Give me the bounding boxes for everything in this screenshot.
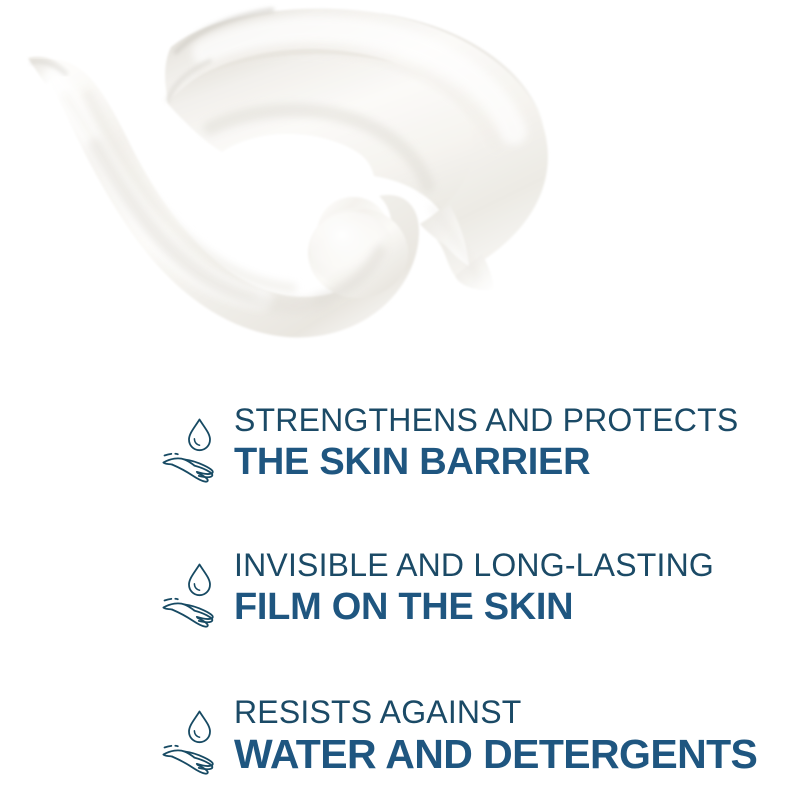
benefit-text-3: RESISTS AGAINST WATER AND DETERGENTS (234, 693, 757, 777)
benefit-text-1: STRENGTHENS AND PROTECTS THE SKIN BARRIE… (234, 401, 738, 485)
cream-swatch-image (0, 0, 800, 390)
benefit-bold-line-1: THE SKIN BARRIER (234, 439, 738, 485)
hand-with-droplet-icon (160, 705, 224, 779)
benefit-text-2: INVISIBLE AND LONG-LASTING FILM ON THE S… (234, 546, 714, 630)
product-benefits-page: STRENGTHENS AND PROTECTS THE SKIN BARRIE… (0, 0, 800, 800)
benefit-bold-line-3: WATER AND DETERGENTS (234, 731, 757, 777)
hand-with-droplet-icon (160, 413, 224, 487)
benefit-light-line-2: INVISIBLE AND LONG-LASTING (234, 546, 714, 584)
benefit-bold-line-2: FILM ON THE SKIN (234, 584, 714, 630)
hand-with-droplet-icon (160, 558, 224, 632)
benefits-list: STRENGTHENS AND PROTECTS THE SKIN BARRIE… (0, 393, 800, 800)
benefit-item-2: INVISIBLE AND LONG-LASTING FILM ON THE S… (0, 546, 800, 666)
benefit-item-1: STRENGTHENS AND PROTECTS THE SKIN BARRIE… (0, 401, 800, 521)
benefit-light-line-1: STRENGTHENS AND PROTECTS (234, 401, 738, 439)
benefit-item-3: RESISTS AGAINST WATER AND DETERGENTS (0, 693, 800, 800)
benefit-light-line-3: RESISTS AGAINST (234, 693, 757, 731)
